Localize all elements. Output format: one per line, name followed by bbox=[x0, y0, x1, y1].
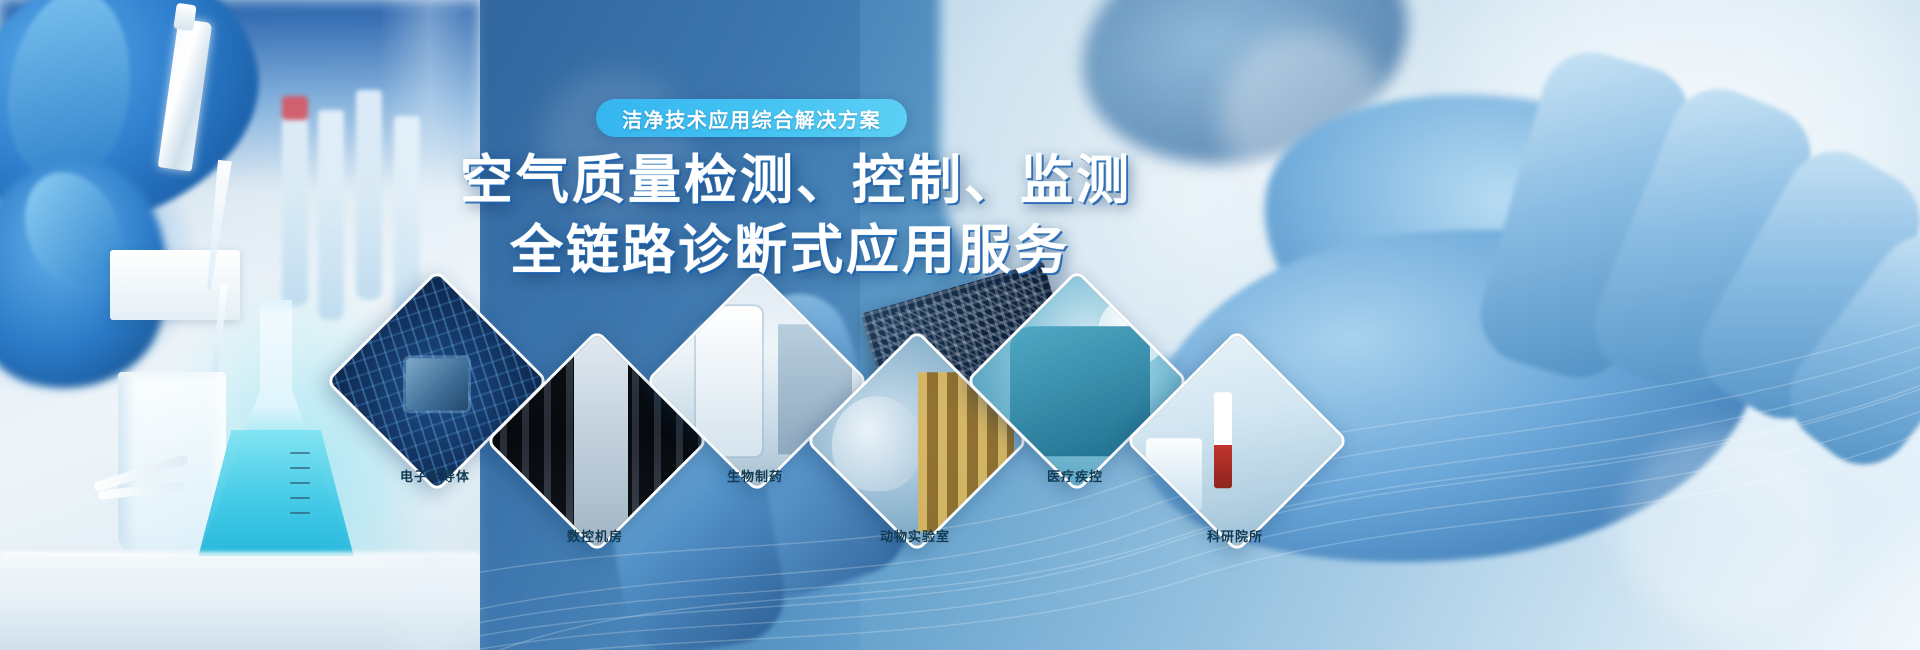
headline-line-2: 全链路诊断式应用服务 bbox=[460, 216, 1120, 286]
pipette-plunger bbox=[173, 3, 196, 32]
industry-card-label: 医疗疾控 bbox=[1000, 466, 1150, 485]
hero-banner: 洁净技术应用综合解决方案 空气质量检测、控制、监测 全链路诊断式应用服务 电子半… bbox=[0, 0, 1920, 650]
industry-card-label: 数控机房 bbox=[520, 526, 670, 545]
industry-card-list: 电子半导体 数控机房 生物制药 动物实验室 医疗疾控 科研院所 bbox=[300, 280, 1310, 650]
headline-line-1: 空气质量检测、控制、监测 bbox=[460, 146, 1120, 216]
tagline-badge-label: 洁净技术应用综合解决方案 bbox=[622, 104, 881, 133]
tagline-badge: 洁净技术应用综合解决方案 bbox=[596, 99, 907, 137]
industry-card-label: 科研院所 bbox=[1160, 526, 1310, 545]
page-title: 空气质量检测、控制、监测 全链路诊断式应用服务 bbox=[460, 146, 1120, 286]
industry-card-label: 动物实验室 bbox=[840, 526, 990, 545]
industry-card-label: 生物制药 bbox=[680, 466, 830, 485]
industry-card-label: 电子半导体 bbox=[360, 466, 510, 485]
